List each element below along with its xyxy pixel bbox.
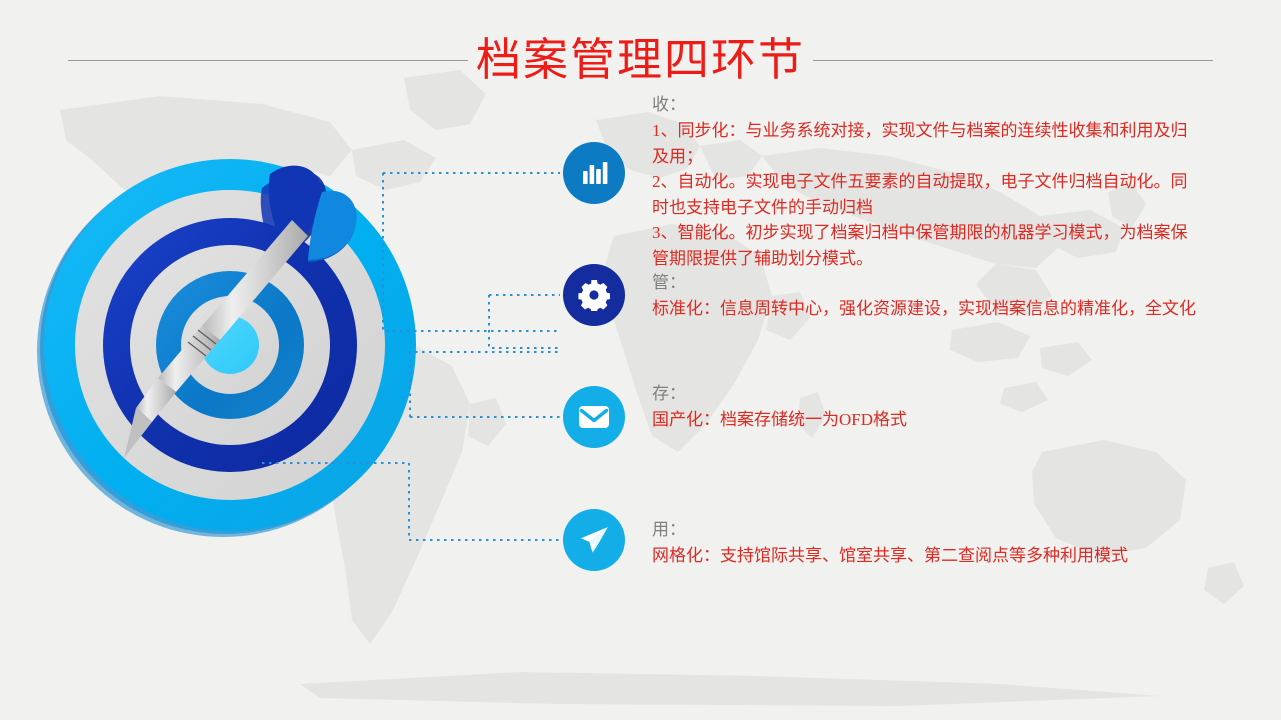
gear-icon — [578, 279, 610, 311]
section-heading-yong: 用： — [652, 517, 1177, 543]
section-icon-cun[interactable] — [563, 386, 625, 448]
dartboard-graphic — [30, 148, 430, 548]
body-line: 及用； — [652, 144, 1177, 170]
section-icon-yong[interactable] — [563, 509, 625, 571]
section-body-shou: 1、同步化：与业务系统对接，实现文件与档案的连续性收集和利用及归 及用； 2、自… — [652, 118, 1177, 271]
text-block-shou: 收： 1、同步化：与业务系统对接，实现文件与档案的连续性收集和利用及归 及用； … — [652, 92, 1177, 271]
section-icon-shou[interactable] — [563, 142, 625, 204]
title-band: 档案管理四环节 — [0, 22, 1281, 98]
bar-chart-icon — [579, 158, 609, 188]
section-heading-cun: 存： — [652, 381, 1177, 407]
title-rule-right — [813, 60, 1213, 61]
body-line: 标准化：信息周转中心，强化资源建设，实现档案信息的精准化，全文化 — [652, 296, 1177, 322]
section-icon-guan[interactable] — [563, 264, 625, 326]
body-line: 3、智能化。初步实现了档案归档中保管期限的机器学习模式，为档案保 — [652, 220, 1177, 246]
title-rule-left — [68, 60, 468, 61]
body-line: 网格化：支持馆际共享、馆室共享、第二查阅点等多种利用模式 — [652, 543, 1177, 569]
text-block-yong: 用： 网格化：支持馆际共享、馆室共享、第二查阅点等多种利用模式 — [652, 517, 1177, 569]
section-body-yong: 网格化：支持馆际共享、馆室共享、第二查阅点等多种利用模式 — [652, 543, 1177, 569]
body-line: 管期限提供了辅助划分模式。 — [652, 246, 1177, 272]
page-title: 档案管理四环节 — [476, 31, 805, 89]
paper-plane-icon — [577, 524, 611, 556]
body-line: 国产化：档案存储统一为OFD格式 — [652, 407, 1177, 433]
section-body-guan: 标准化：信息周转中心，强化资源建设，实现档案信息的精准化，全文化 — [652, 296, 1177, 322]
body-line: 2、自动化。实现电子文件五要素的自动提取，电子文件归档自动化。同 — [652, 169, 1177, 195]
body-line: 1、同步化：与业务系统对接，实现文件与档案的连续性收集和利用及归 — [652, 118, 1177, 144]
body-line: 时也支持电子文件的手动归档 — [652, 195, 1177, 221]
section-body-cun: 国产化：档案存储统一为OFD格式 — [652, 407, 1177, 433]
envelope-icon — [578, 404, 610, 430]
text-block-cun: 存： 国产化：档案存储统一为OFD格式 — [652, 381, 1177, 433]
section-heading-guan: 管： — [652, 270, 1177, 296]
text-block-guan: 管： 标准化：信息周转中心，强化资源建设，实现档案信息的精准化，全文化 — [652, 270, 1177, 322]
